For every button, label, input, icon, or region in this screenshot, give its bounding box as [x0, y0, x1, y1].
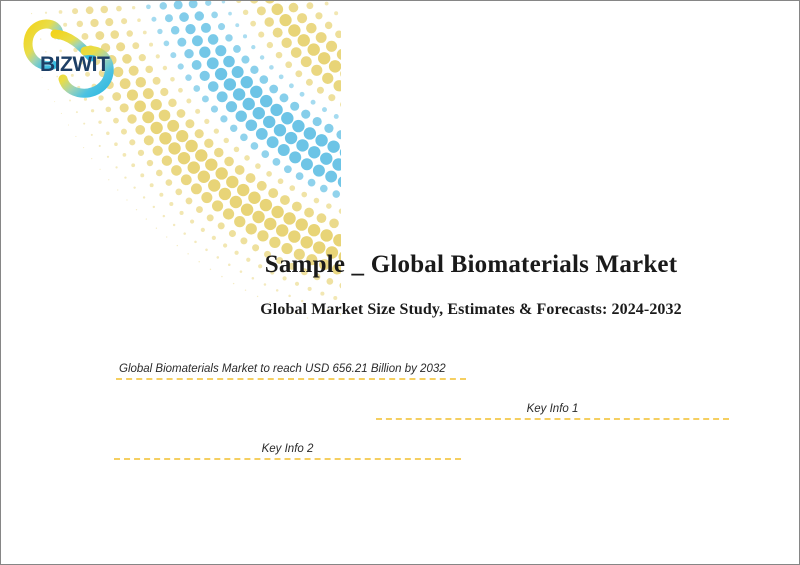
key-highlight-text: Global Biomaterials Market to reach USD … — [116, 363, 466, 378]
report-cover-page: BIZWIT Sample _ Global Biomaterials Mark… — [0, 0, 800, 565]
key-info-1-text: Key Info 1 — [376, 403, 729, 418]
key-highlight-row: Global Biomaterials Market to reach USD … — [116, 363, 466, 380]
key-info-1-row: Key Info 1 — [376, 403, 729, 420]
key-info-2-text: Key Info 2 — [114, 443, 461, 458]
page-subtitle: Global Market Size Study, Estimates & Fo… — [161, 301, 781, 319]
key-info-2-row: Key Info 2 — [114, 443, 461, 460]
bizwit-wordmark: BIZWIT — [40, 53, 109, 77]
page-title: Sample _ Global Biomaterials Market — [161, 251, 781, 279]
bizwit-logo: BIZWIT — [15, 13, 127, 109]
